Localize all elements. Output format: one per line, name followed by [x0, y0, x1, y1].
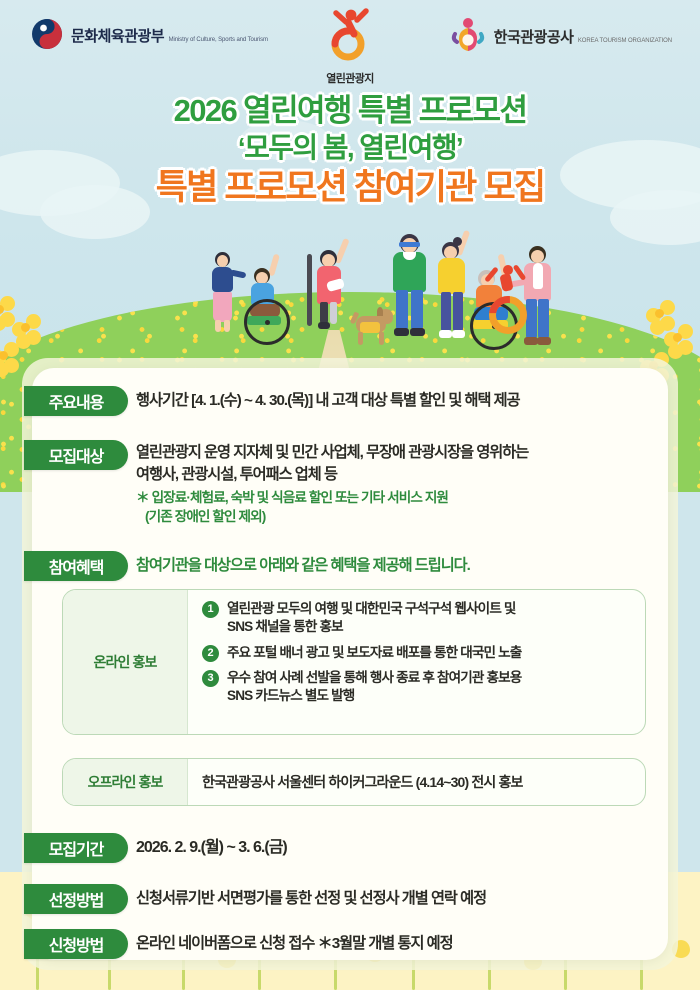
figure-boy-wheelchair [244, 262, 304, 344]
label-main-content: 주요내용 [24, 386, 128, 416]
kto-symbol-icon [449, 17, 487, 58]
benefit-box-offline: 오프라인 홍보 한국관광공사 서울센터 하이커그라운드 (4.14~30) 전시… [62, 758, 646, 806]
logo-open-tourism-caption: 열린관광지 [326, 70, 374, 86]
logo-name-ko: 한국관광공사 [494, 29, 574, 46]
benefit-body-online: 1 열린관광 모두의 여행 및 대한민국 구석구석 웹사이트 및 SNS 채널을… [188, 590, 645, 734]
text-target-line-1: 열린관광지 운영 지자체 및 민간 사업체, 무장애 관광시장을 영위하는 [136, 444, 528, 461]
people-illustration [200, 228, 520, 358]
benefit-item: 1 열린관광 모두의 여행 및 대한민국 구석구석 웹사이트 및 SNS 채널을… [202, 600, 633, 637]
benefit-item-line-2: SNS 카드뉴스 별도 발행 [227, 688, 354, 703]
figure-woman-yellow [432, 234, 474, 342]
label-target: 모집대상 [24, 440, 128, 470]
benefit-item: 3 우수 참여 사례 선발을 통해 행사 종료 후 참여기관 홍보용 SNS 카… [202, 669, 633, 706]
benefit-box-online: 온라인 홍보 1 열린관광 모두의 여행 및 대한민국 구석구석 웹사이트 및 … [62, 589, 646, 735]
benefit-item-text: 우수 참여 사례 선발을 통해 행사 종료 후 참여기관 홍보용 SNS 카드뉴… [227, 669, 521, 706]
open-tourism-figure-icon [324, 6, 376, 67]
title-line-3: 특별 프로모션 참여기관 모집 [0, 165, 700, 211]
benefit-item-text: 열린관광 모두의 여행 및 대한민국 구석구석 웹사이트 및 SNS 채널을 통… [227, 600, 516, 637]
open-tourism-mascot-icon [487, 262, 529, 334]
benefit-item-text: 주요 포털 배너 광고 및 보도자료 배포를 통한 대국민 노출 [227, 644, 521, 662]
promotion-poster: 문화체육관광부 Ministry of Culture, Sports and … [0, 0, 700, 990]
label-benefits: 참여혜택 [24, 551, 128, 581]
text-main-content: 행사기간 [4. 1.(수) ~ 4. 30.(목)] 내 고객 대상 특별 할… [136, 390, 678, 412]
benefit-item: 2 주요 포털 배너 광고 및 보도자료 배포를 통한 대국민 노출 [202, 644, 633, 662]
benefit-label-online: 온라인 홍보 [63, 590, 188, 734]
figure-woman-pink-skirt [206, 252, 240, 344]
label-apply: 신청방법 [24, 929, 128, 959]
logo-text-group: 한국관광공사 KOREA TOURISM ORGANIZATION [494, 29, 672, 47]
benefit-item-line-1: 우수 참여 사례 선발을 통해 행사 종료 후 참여기관 홍보용 [227, 670, 521, 685]
note-target-line-2: (기존 장애인 할인 제외) [136, 507, 678, 526]
text-target: 열린관광지 운영 지자체 및 민간 사업체, 무장애 관광시장을 영위하는 여행… [136, 442, 678, 526]
benefit-text-offline: 한국관광공사 서울센터 하이커그라운드 (4.14~30) 전시 홍보 [188, 759, 645, 805]
text-selection: 신청서류기반 서면평가를 통한 선정 및 선정사 개별 연락 예정 [136, 888, 678, 910]
figure-man-sunglasses-green [388, 230, 432, 342]
benefit-item-number: 3 [202, 670, 219, 687]
logo-korea-tourism-organization: 한국관광공사 KOREA TOURISM ORGANIZATION [449, 17, 672, 58]
benefit-label-offline: 오프라인 홍보 [63, 759, 188, 805]
text-target-line-2: 여행사, 관광시설, 투어패스 업체 등 [136, 466, 337, 483]
text-benefits: 참여기관을 대상으로 아래와 같은 혜택을 제공해 드립니다. [136, 555, 678, 577]
label-selection: 선정방법 [24, 884, 128, 914]
benefit-item-line-1: 열린관광 모두의 여행 및 대한민국 구석구석 웹사이트 및 [227, 601, 516, 616]
benefit-item-line-1: 주요 포털 배너 광고 및 보도자료 배포를 통한 대국민 노출 [227, 645, 521, 660]
text-apply: 온라인 네이버폼으로 신청 접수 ＊3월말 개별 통지 예정 [136, 933, 678, 955]
text-period: 2026. 2. 9.(월) ~ 3. 6.(금) [136, 837, 678, 860]
title-line-2: ‘모두의 봄, 열린여행’ [0, 130, 700, 165]
logo-bar: 문화체육관광부 Ministry of Culture, Sports and … [0, 0, 700, 88]
note-target: ＊ 입장료·체험료, 숙박 및 식음료 할인 또는 기타 서비스 지원 (기존 … [136, 488, 678, 526]
label-period: 모집기간 [24, 833, 128, 863]
benefit-body-offline: 한국관광공사 서울센터 하이커그라운드 (4.14~30) 전시 홍보 [188, 759, 645, 805]
benefit-item-line-2: SNS 채널을 통한 홍보 [227, 619, 343, 634]
logo-name-en: KOREA TOURISM ORGANIZATION [578, 38, 672, 44]
note-target-line-1: ＊ 입장료·체험료, 숙박 및 식음료 할인 또는 기타 서비스 지원 [136, 490, 448, 505]
title-line-1: 2026 열린여행 특별 프로모션 [0, 92, 700, 130]
benefit-item-number: 2 [202, 645, 219, 662]
benefit-item-number: 1 [202, 601, 219, 618]
poster-title: 2026 열린여행 특별 프로모션 ‘모두의 봄, 열린여행’ 특별 프로모션 … [0, 92, 700, 211]
